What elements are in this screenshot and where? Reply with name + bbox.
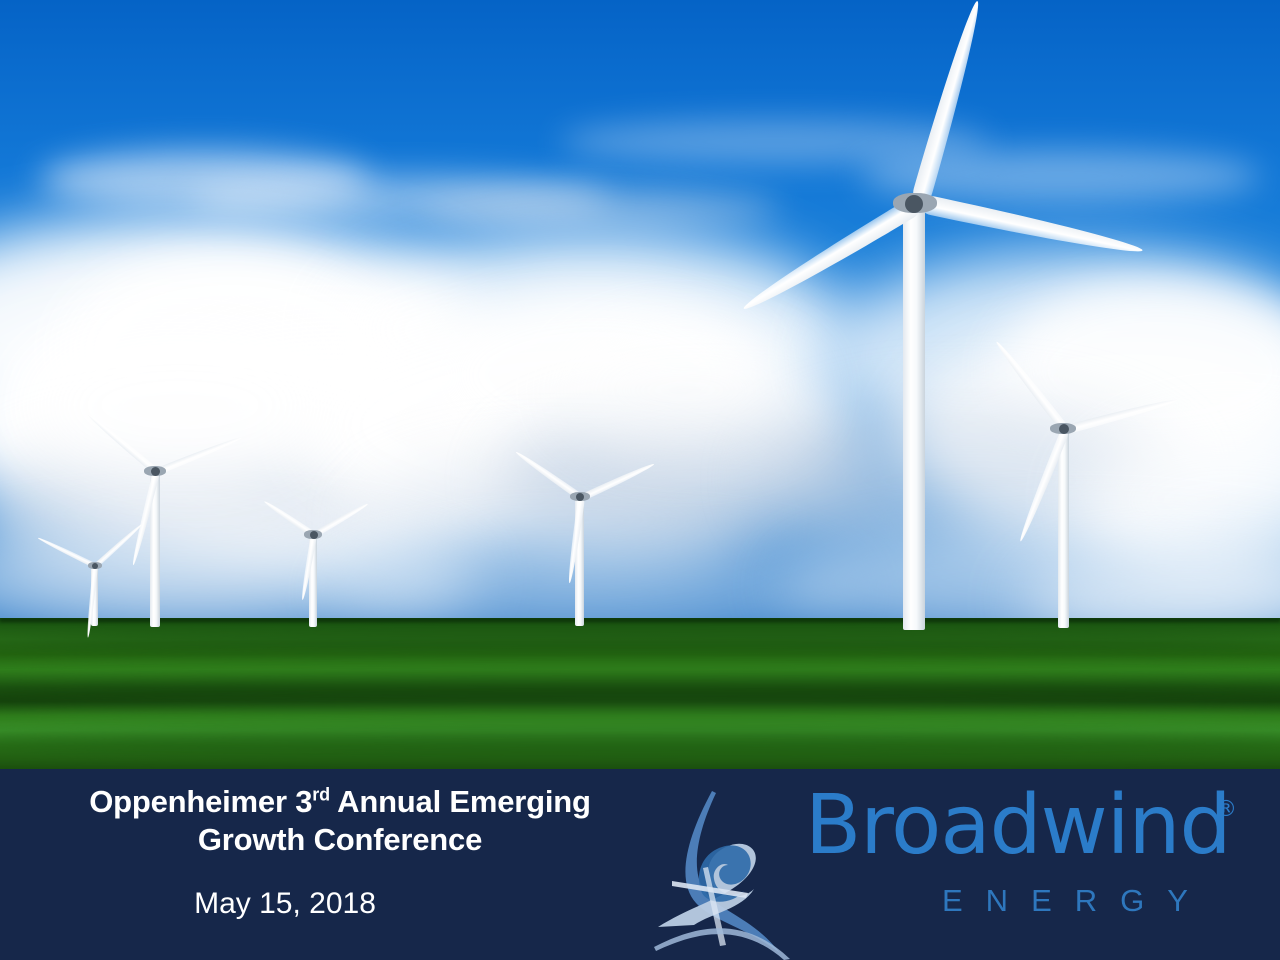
title-line-1-prefix: Oppenheimer 3 [89, 784, 312, 819]
page-title: Oppenheimer 3rd Annual Emerging Growth C… [20, 783, 660, 859]
title-footer-band: Oppenheimer 3rd Annual Emerging Growth C… [0, 769, 1280, 960]
presentation-date: May 15, 2018 [20, 887, 550, 921]
broadwind-energy-logo: Broadwind ® ENERGY [650, 769, 1270, 960]
horizon-line [0, 618, 1280, 622]
registered-trademark-icon: ® [1215, 797, 1237, 822]
sky-background [0, 0, 1280, 622]
logo-tagline: ENERGY [942, 883, 1211, 919]
title-line-2: Growth Conference [198, 822, 482, 857]
logo-wordmark: Broadwind [805, 785, 1231, 867]
title-line-1-rest: Annual Emerging [330, 784, 591, 819]
presentation-slide: Oppenheimer 3rd Annual Emerging Growth C… [0, 0, 1280, 960]
grass-field [0, 618, 1280, 770]
title-ordinal-suffix: rd [312, 785, 330, 805]
